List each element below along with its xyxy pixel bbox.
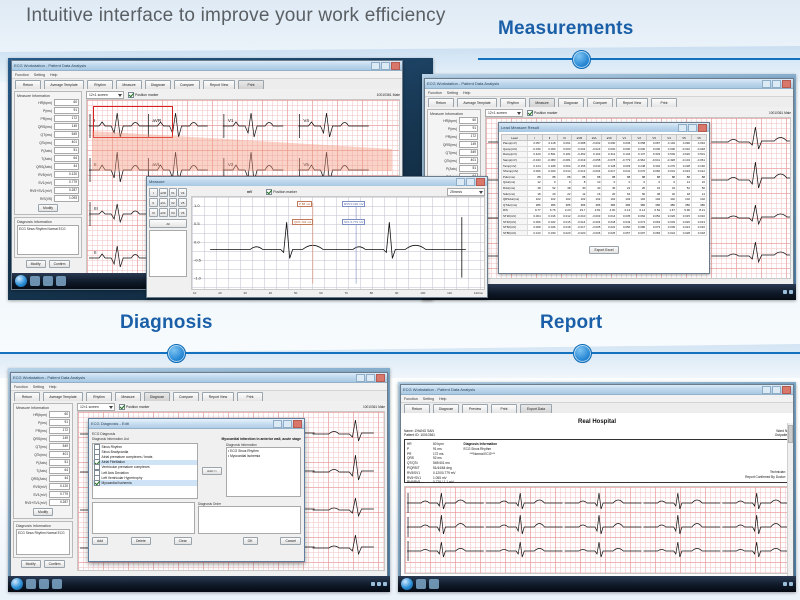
close-icon[interactable] bbox=[782, 80, 791, 88]
browser-icon[interactable] bbox=[416, 579, 426, 589]
field-qtc-3: QTc(ms)401 bbox=[16, 451, 70, 458]
tray-icon[interactable] bbox=[371, 582, 375, 586]
window-title-2: ECG Workstation - Patient Data Analysis bbox=[427, 81, 499, 86]
menu-setting[interactable]: Setting bbox=[447, 91, 458, 95]
start-orb-icon[interactable] bbox=[401, 578, 413, 590]
maximize-icon[interactable] bbox=[283, 420, 292, 428]
field-qt-3: QT(ms)549 bbox=[16, 443, 70, 450]
field-value[interactable]: 51 bbox=[54, 147, 79, 154]
measure-actions-3[interactable]: Modify bbox=[16, 508, 70, 516]
x-tick: 120ms bbox=[474, 291, 483, 295]
lead-button-V1[interactable]: V1 bbox=[169, 188, 178, 197]
menu-function[interactable]: Function bbox=[14, 385, 28, 389]
field-value[interactable]: 51 bbox=[49, 459, 70, 466]
all-leads-button[interactable]: All bbox=[149, 219, 187, 228]
field-p-3: P(ms)91 bbox=[16, 419, 70, 426]
report-field: RV6/RV50.776 / 1.1 mV bbox=[407, 480, 456, 485]
menu-function[interactable]: Function bbox=[428, 91, 442, 95]
app-window-report[interactable]: ECG Workstation - Patient Data Analysis … bbox=[400, 384, 794, 578]
panel-actions[interactable]: Modify Confirm bbox=[14, 260, 82, 268]
window-titlebar[interactable]: ECG Workstation - Patient Data Analysis bbox=[12, 61, 402, 71]
toolbar-average-template[interactable]: Average Template bbox=[43, 392, 83, 402]
close-icon[interactable] bbox=[293, 420, 302, 428]
lead-button-V4[interactable]: V4 bbox=[178, 188, 187, 197]
report-toolbar-diagnose[interactable]: Diagnose bbox=[433, 404, 459, 414]
report-toolbar-print[interactable]: Print bbox=[491, 404, 517, 414]
diagnosis-list-item-label: Sinus Rhythm bbox=[102, 445, 123, 449]
lead-button-III[interactable]: III bbox=[149, 208, 158, 217]
x-tick: 20 bbox=[218, 291, 221, 295]
modify-button[interactable]: Modify bbox=[38, 204, 58, 212]
lead-button-aVR[interactable]: aVR bbox=[159, 188, 168, 197]
field-value[interactable]: 64 bbox=[49, 467, 70, 474]
lead-button-grid[interactable]: I aVR V1 V4 II aVL V2 V5 III aVF V3 V6 bbox=[149, 188, 187, 217]
maximize-icon[interactable] bbox=[772, 386, 781, 394]
close-icon[interactable] bbox=[476, 178, 485, 186]
field-value[interactable]: 60 bbox=[54, 99, 79, 106]
maximize-icon[interactable] bbox=[466, 178, 475, 186]
table-row-label: ST80(mV) bbox=[502, 230, 528, 236]
table-cell: -0.020 bbox=[572, 230, 587, 236]
field-rs: R/S(V5)1.093 bbox=[17, 195, 79, 202]
measurements-table[interactable]: LeadIIIIIIaVRaVLaVFV1V2V3V4V5V6 Pamp(mV)… bbox=[501, 134, 707, 236]
svg-text:II: II bbox=[94, 162, 97, 167]
checkbox-icon[interactable] bbox=[94, 480, 100, 486]
browser-icon[interactable] bbox=[30, 276, 40, 286]
position-marker-label: Position marker bbox=[135, 93, 159, 97]
minimize-icon[interactable] bbox=[762, 80, 771, 88]
annotation-p: P 88 ms bbox=[297, 201, 312, 207]
lead-button-aVL[interactable]: aVL bbox=[159, 198, 168, 207]
measure-plot[interactable]: 1.00.50.0 -0.5-1.0 P 88 ms QRS 102 ms RV… bbox=[191, 196, 485, 290]
dialog-transfer-actions[interactable]: Add >> bbox=[201, 443, 223, 499]
field-value[interactable]: 172 bbox=[459, 133, 478, 140]
report-ecg-traces bbox=[405, 487, 789, 573]
report-summary-box: HR60 bpmP91 msPR172 msQRS92 msQT/QTc549/… bbox=[404, 439, 790, 483]
close-icon[interactable] bbox=[782, 386, 791, 394]
diagnosis-item-list[interactable]: Sinus RhythmSinus BradycardiaAtrial prem… bbox=[92, 443, 198, 499]
field-value[interactable]: 0.120 bbox=[49, 483, 70, 490]
field-value[interactable]: 44 bbox=[54, 163, 79, 170]
table-cell: 0.044 bbox=[662, 230, 677, 236]
checkbox-icon[interactable] bbox=[266, 189, 272, 195]
system-tray[interactable] bbox=[783, 290, 793, 294]
field-label: HR(bpm) bbox=[38, 101, 52, 105]
diagnosis-list-item-label: Left Ventricular Hypertrophy bbox=[102, 476, 143, 480]
field-value[interactable]: 149 bbox=[54, 123, 79, 130]
dialog-banner: Myocardial infarction in anterior wall, … bbox=[221, 437, 301, 441]
ok-button[interactable]: OK bbox=[243, 537, 258, 545]
measure-info-title-2: Measure Information bbox=[430, 112, 478, 116]
field-label: HR(bpm) bbox=[33, 413, 47, 417]
x-tick: 50 bbox=[294, 291, 297, 295]
field-label: QTc(ms) bbox=[444, 159, 457, 163]
maximize-icon[interactable] bbox=[381, 62, 390, 70]
field-label: R/S(V5) bbox=[40, 197, 52, 201]
measure-info-group: Measure Information HR(bpm)60 P(ms)91 PR… bbox=[14, 91, 82, 215]
field-p-2: P(ms)91 bbox=[430, 125, 478, 132]
patient-id-label-2: 10010361 Male bbox=[769, 111, 791, 115]
field-value[interactable]: 0.287 bbox=[49, 499, 70, 506]
menu-setting[interactable]: Setting bbox=[33, 385, 44, 389]
close-icon[interactable] bbox=[698, 124, 707, 132]
toolbar-return[interactable]: Return bbox=[428, 98, 454, 108]
menu-help[interactable]: Help bbox=[463, 91, 470, 95]
lead-button-V6[interactable]: V6 bbox=[178, 208, 187, 217]
field-label: QT(ms) bbox=[446, 151, 458, 155]
system-tray[interactable] bbox=[783, 582, 793, 586]
field-value[interactable]: 91 bbox=[54, 107, 79, 114]
table-body[interactable]: Pamp(mV)0.0570.1180.061-0.088-0.0020.090… bbox=[502, 141, 707, 236]
toolbar-print[interactable]: Print bbox=[238, 80, 264, 90]
window-buttons[interactable] bbox=[762, 386, 791, 394]
report-toolbar-export[interactable]: Export Data bbox=[520, 404, 552, 414]
menubar-2[interactable]: Function Setting Help bbox=[425, 89, 793, 97]
diagnosis-info-text[interactable]: ECG Sinus Rhythm Normal ECG bbox=[17, 225, 79, 255]
minimize-icon[interactable] bbox=[371, 62, 380, 70]
patient-id-label-3: 10010361 Male bbox=[363, 405, 385, 409]
lead-button-V5[interactable]: V5 bbox=[178, 198, 187, 207]
dialog-titlebar[interactable]: ECG Diagnosis - Edit bbox=[89, 419, 304, 429]
diagnosis-list-item-label: Ventricular premature complexes bbox=[102, 465, 150, 469]
window-buttons[interactable] bbox=[456, 178, 485, 186]
modify-button-3[interactable]: Modify bbox=[33, 508, 53, 516]
toolbar-print[interactable]: Print bbox=[237, 392, 263, 402]
add-button[interactable]: Add bbox=[92, 537, 108, 545]
confirm-button-2[interactable]: Confirm bbox=[44, 560, 66, 568]
measure-trace: 1.00.50.0 -0.5-1.0 bbox=[192, 197, 484, 290]
field-value[interactable]: 0.779 bbox=[49, 491, 70, 498]
start-orb-icon[interactable] bbox=[15, 275, 27, 287]
field-label: RV5+SV1(mV) bbox=[30, 189, 52, 193]
toolbar-measure[interactable]: Measure bbox=[116, 80, 142, 90]
lead-measure-result-window[interactable]: Lead Measure Result LeadIIIIIIaVRaVLaVFV… bbox=[498, 122, 710, 274]
section-label-report: Report bbox=[540, 312, 602, 334]
field-label: QRS(ms) bbox=[443, 143, 457, 147]
window-title-3: ECG Workstation - Patient Data Analysis bbox=[13, 375, 85, 380]
toolbar-average-template[interactable]: Average Template bbox=[457, 98, 497, 108]
window-buttons[interactable] bbox=[356, 374, 385, 382]
menu-function[interactable]: Function bbox=[404, 397, 418, 401]
window-titlebar-4[interactable]: ECG Workstation - Patient Data Analysis bbox=[401, 385, 793, 395]
toolbar-rhythm[interactable]: Rhythm bbox=[87, 80, 113, 90]
diagnosis-list-item-label: Left Axis Deviation bbox=[102, 471, 129, 475]
measure-chart-area: mV Position marker 25mm/s 1.00.50.0 -0.5… bbox=[189, 186, 487, 297]
menu-help[interactable]: Help bbox=[50, 73, 57, 77]
field-value[interactable]: 60 bbox=[49, 411, 70, 418]
browser-icon[interactable] bbox=[26, 579, 36, 589]
toolbar-diagnose[interactable]: Diagnose bbox=[145, 80, 171, 90]
field-label: P(Axis) bbox=[36, 461, 47, 465]
menu-setting[interactable]: Setting bbox=[423, 397, 434, 401]
dialog-title: ECG Diagnosis - Edit bbox=[91, 421, 129, 426]
connector-dot-measurements bbox=[572, 50, 591, 69]
toolbar-diagnose[interactable]: Diagnose bbox=[558, 98, 584, 108]
lead-mode-select-2[interactable]: 12×1 screen bbox=[485, 109, 523, 117]
field-taxis-3: T(Axis)64 bbox=[16, 467, 70, 474]
window-buttons[interactable] bbox=[273, 420, 302, 428]
menu-help[interactable]: Help bbox=[49, 385, 56, 389]
taskbar-3[interactable] bbox=[8, 576, 390, 592]
field-value[interactable]: 401 bbox=[54, 139, 79, 146]
lead-list[interactable] bbox=[149, 230, 187, 277]
field-value[interactable]: 549 bbox=[49, 443, 70, 450]
measure-window-title: Measure bbox=[149, 179, 165, 184]
field-taxis: T(Axis)64 bbox=[17, 155, 79, 162]
x-tick: 40 bbox=[269, 291, 272, 295]
toolbar-return[interactable]: Return bbox=[14, 392, 40, 402]
field-value[interactable]: 149 bbox=[49, 435, 70, 442]
svg-text:1.0: 1.0 bbox=[194, 203, 200, 208]
minimize-icon[interactable] bbox=[356, 374, 365, 382]
field-value[interactable]: 60 bbox=[459, 117, 478, 124]
report-page[interactable]: Real Hospital Name: ZHANG SAN Patient ID… bbox=[401, 413, 793, 577]
maximize-icon[interactable] bbox=[688, 124, 697, 132]
modify-button-2[interactable]: Modify bbox=[26, 260, 46, 268]
menubar-3[interactable]: Function Setting Help bbox=[11, 383, 387, 391]
ecg-controls-2[interactable]: 12×1 screen Position marker 10010361 Mal… bbox=[485, 109, 791, 116]
field-value[interactable]: 0.779 bbox=[54, 179, 79, 186]
window-title-4: ECG Workstation - Patient Data Analysis bbox=[403, 387, 475, 392]
selected-diagnosis-item[interactable]: • Myocardial Ischemia bbox=[227, 453, 300, 458]
media-icon[interactable] bbox=[56, 276, 66, 286]
lead-button-I[interactable]: I bbox=[149, 188, 158, 197]
menubar-4[interactable]: Function Setting Help bbox=[401, 395, 793, 403]
field-label: QT(ms) bbox=[36, 445, 48, 449]
start-orb-icon[interactable] bbox=[11, 578, 23, 590]
field-qtc-2: QTc(ms)401 bbox=[430, 157, 478, 164]
tray-icon[interactable] bbox=[377, 582, 381, 586]
annotation-rv5: RV5 0.120 mV bbox=[342, 201, 365, 207]
table-window-title: Lead Measure Result bbox=[501, 125, 539, 130]
toolbar-rhythm[interactable]: Rhythm bbox=[500, 98, 526, 108]
toolbar-measure[interactable]: Measure bbox=[115, 392, 141, 402]
maximize-icon[interactable] bbox=[366, 374, 375, 382]
field-value[interactable]: 0.287 bbox=[54, 187, 79, 194]
measure-info-title-3: Measure Information bbox=[16, 406, 70, 410]
delete-button[interactable]: Delete bbox=[131, 537, 151, 545]
field-value[interactable]: 401 bbox=[459, 157, 478, 164]
menu-setting[interactable]: Setting bbox=[34, 73, 45, 77]
add-to-report-button[interactable]: Add >> bbox=[202, 467, 222, 475]
table-row[interactable]: ST80(mV)0.0100.0300.020-0.020-0.0060.025… bbox=[502, 230, 707, 236]
dialog-body: ECG Diagnosis Diagnosis Information List… bbox=[89, 429, 304, 548]
report-people-line: Patient ID: 10010361 bbox=[404, 433, 435, 437]
field-label: QRS(Axis) bbox=[31, 477, 47, 481]
position-marker-label-3: Position marker bbox=[534, 111, 558, 115]
feature-collage: Intuitive interface to improve your work… bbox=[0, 0, 800, 600]
table-cell: 0.020 bbox=[557, 230, 572, 236]
ecg-controls[interactable]: 12×1 screen Position marker 10010361 Mal… bbox=[86, 91, 400, 98]
lead-button-V3[interactable]: V3 bbox=[169, 208, 178, 217]
minimize-icon[interactable] bbox=[273, 420, 282, 428]
diagnosis-list-item[interactable]: Myocardial Ischemia bbox=[93, 480, 197, 485]
table-scroll-area[interactable]: LeadIIIIIIaVRaVLaVFV1V2V3V4V5V6 Pamp(mV)… bbox=[499, 132, 709, 273]
ecg-controls-3[interactable]: 12×1 screen Position marker 10010361 Mal… bbox=[77, 403, 385, 410]
menu-help[interactable]: Help bbox=[439, 397, 446, 401]
minimize-icon[interactable] bbox=[456, 178, 465, 186]
connector-rail-diagnosis-right bbox=[175, 352, 800, 354]
lead-mode-select[interactable]: 12×1 screen bbox=[86, 91, 124, 99]
diagnosis-list-item-label: Atrial Fibrillation bbox=[102, 460, 125, 464]
toolbar-average-template[interactable]: Average Template bbox=[44, 80, 84, 90]
export-excel-button[interactable]: Export Excel bbox=[589, 246, 618, 254]
field-qrs-3: QRS(ms)149 bbox=[16, 435, 70, 442]
field-value[interactable]: 149 bbox=[459, 141, 478, 148]
window-buttons[interactable] bbox=[678, 124, 707, 132]
window-titlebar-2[interactable]: ECG Workstation - Patient Data Analysis bbox=[425, 79, 793, 89]
toolbar-rhythm[interactable]: Rhythm bbox=[86, 392, 112, 402]
modify-button-4[interactable]: Modify bbox=[21, 560, 41, 568]
field-value[interactable]: 549 bbox=[54, 131, 79, 138]
diagnosis-list-item-label: Atrial premature complexes / beats bbox=[102, 455, 153, 459]
position-marker-label-2: Position marker bbox=[273, 190, 297, 194]
close-icon[interactable] bbox=[376, 374, 385, 382]
x-tick: 90 bbox=[395, 291, 398, 295]
measure-window-body: I aVR V1 V4 II aVL V2 V5 III aVF V3 V6 A… bbox=[147, 186, 487, 297]
diagnosis-dialog[interactable]: ECG Diagnosis - Edit ECG Diagnosis Diagn… bbox=[88, 418, 305, 562]
lead-button-V2[interactable]: V2 bbox=[169, 198, 178, 207]
toolbar-report-view[interactable]: Report View bbox=[616, 98, 648, 108]
field-qt-2: QT(ms)549 bbox=[430, 149, 478, 156]
field-label: PR(ms) bbox=[446, 135, 458, 139]
maximize-icon[interactable] bbox=[772, 80, 781, 88]
report-scrollbar[interactable] bbox=[787, 423, 793, 577]
lead-button-panel[interactable]: I aVR V1 V4 II aVL V2 V5 III aVF V3 V6 A… bbox=[147, 186, 189, 297]
checkbox-icon[interactable] bbox=[119, 404, 125, 410]
toolbar-report-view[interactable]: Report View bbox=[203, 80, 235, 90]
clear-button[interactable]: Clear bbox=[174, 537, 192, 545]
folder-icon[interactable] bbox=[429, 579, 439, 589]
measure-detail-window[interactable]: Measure I aVR V1 V4 II aVL V2 V5 III bbox=[146, 176, 488, 298]
lead-button-II[interactable]: II bbox=[149, 198, 158, 207]
measure-controls[interactable]: mV Position marker 25mm/s bbox=[191, 188, 485, 195]
field-rv5sv1: RV5+SV1(mV)0.287 bbox=[17, 187, 79, 194]
system-tray[interactable] bbox=[371, 582, 387, 586]
checkbox-icon[interactable] bbox=[527, 110, 533, 116]
toolbar-compare[interactable]: Compare bbox=[173, 392, 199, 402]
tray-icon[interactable] bbox=[789, 290, 793, 294]
tray-icon[interactable] bbox=[783, 582, 787, 586]
measure-x-axis: 10 20 30 40 50 60 70 80 90 100 110 120ms bbox=[191, 291, 485, 295]
window-titlebar-3[interactable]: ECG Workstation - Patient Data Analysis bbox=[11, 373, 387, 383]
tray-icon[interactable] bbox=[383, 582, 387, 586]
field-qrs: QRS(ms)149 bbox=[17, 123, 79, 130]
folder-icon[interactable] bbox=[39, 579, 49, 589]
report-doctor-label: Report Confirmed By Doctor: bbox=[745, 475, 786, 480]
cancel-button[interactable]: Cancel bbox=[280, 537, 301, 545]
toolbar-measure[interactable]: Measure bbox=[529, 98, 555, 108]
lead-mode-select-3[interactable]: 12×1 screen bbox=[77, 403, 115, 411]
report-field-label: RV6/RV5 bbox=[407, 480, 427, 485]
toolbar-report-view[interactable]: Report View bbox=[202, 392, 234, 402]
measure-actions[interactable]: Modify bbox=[17, 204, 79, 212]
field-value[interactable]: 0.120 bbox=[54, 171, 79, 178]
svg-text:III: III bbox=[94, 206, 98, 211]
table-actions[interactable]: Export Excel bbox=[501, 238, 707, 256]
position-marker-checkbox-3[interactable]: Position marker bbox=[527, 110, 558, 116]
report-ecg-strip[interactable] bbox=[404, 486, 790, 574]
field-label: T(Axis) bbox=[36, 469, 47, 473]
field-qtc: QTc(ms)401 bbox=[17, 139, 79, 146]
diagnosis-list-item-label: Sinus Bradycardia bbox=[102, 450, 129, 454]
speed-select[interactable]: 25mm/s bbox=[447, 188, 485, 196]
field-qrsaxis-3: QRS(Axis)44 bbox=[16, 475, 70, 482]
toolbar-print[interactable]: Print bbox=[651, 98, 677, 108]
field-value[interactable]: 549 bbox=[459, 149, 478, 156]
field-label: RV5+SV1(mV) bbox=[25, 501, 47, 505]
field-value[interactable]: 172 bbox=[54, 115, 79, 122]
taskbar-4[interactable] bbox=[398, 576, 796, 592]
x-tick: 100 bbox=[420, 291, 425, 295]
confirm-button[interactable]: Confirm bbox=[49, 260, 71, 268]
close-icon[interactable] bbox=[391, 62, 400, 70]
diagnosis-info-text-3[interactable]: ECG Sinus Rhythm Normal ECG bbox=[16, 529, 70, 555]
table-cell: 0.018 bbox=[691, 230, 706, 236]
minimize-icon[interactable] bbox=[762, 386, 771, 394]
position-marker-checkbox-4[interactable]: Position marker bbox=[119, 404, 150, 410]
field-label: P(Axis) bbox=[446, 167, 457, 171]
diagnosis-free-text[interactable] bbox=[92, 502, 195, 534]
panel-actions-3[interactable]: Modify Confirm bbox=[13, 560, 73, 568]
table-cell: 0.057 bbox=[617, 230, 632, 236]
field-paxis: P(Axis)51 bbox=[17, 147, 79, 154]
svg-text:II: II bbox=[94, 250, 97, 255]
position-marker-checkbox-2[interactable]: Position marker bbox=[266, 189, 297, 195]
report-toolbar-preview[interactable]: Preview bbox=[462, 404, 488, 414]
field-value[interactable]: 91 bbox=[49, 419, 70, 426]
tray-icon[interactable] bbox=[783, 290, 787, 294]
folder-icon[interactable] bbox=[43, 276, 53, 286]
field-hr: HR(bpm)60 bbox=[17, 99, 79, 106]
menubar[interactable]: Function Setting Help bbox=[12, 71, 402, 79]
field-value[interactable]: 51 bbox=[459, 165, 478, 172]
svg-text:I: I bbox=[94, 118, 95, 123]
menu-function[interactable]: Function bbox=[15, 73, 29, 77]
field-value[interactable]: 91 bbox=[459, 125, 478, 132]
tray-icon[interactable] bbox=[789, 582, 793, 586]
field-value[interactable]: 172 bbox=[49, 427, 70, 434]
field-value[interactable]: 64 bbox=[54, 155, 79, 162]
media-icon[interactable] bbox=[52, 579, 62, 589]
lead-button-aVF[interactable]: aVF bbox=[159, 208, 168, 217]
x-tick: 10 bbox=[193, 291, 196, 295]
toolbar-compare[interactable]: Compare bbox=[174, 80, 200, 90]
dialog-buttons[interactable]: Add Delete Clear OK Cancel bbox=[92, 537, 301, 545]
field-value[interactable]: 401 bbox=[49, 451, 70, 458]
toolbar-return[interactable]: Return bbox=[15, 80, 41, 90]
report-scroll-thumb[interactable] bbox=[788, 425, 793, 443]
selected-diagnosis-list[interactable]: • ECG Sinus Rhythm• Myocardial Ischemia bbox=[226, 447, 301, 497]
toolbar-diagnose[interactable]: Diagnose bbox=[144, 392, 170, 402]
checkbox-icon[interactable] bbox=[128, 92, 134, 98]
x-tick: 110 bbox=[447, 291, 452, 295]
page-title: Intuitive interface to improve your work… bbox=[26, 4, 446, 28]
field-value[interactable]: 1.093 bbox=[54, 195, 79, 202]
window-buttons[interactable] bbox=[762, 80, 791, 88]
toolbar-compare[interactable]: Compare bbox=[587, 98, 613, 108]
window-buttons[interactable] bbox=[371, 62, 400, 70]
diagnosis-order-list[interactable] bbox=[198, 506, 301, 534]
field-value[interactable]: 44 bbox=[49, 475, 70, 482]
screenshot-report: ECG Workstation - Patient Data Analysis … bbox=[398, 382, 796, 592]
report-toolbar-return[interactable]: Return bbox=[404, 404, 430, 414]
minimize-icon[interactable] bbox=[678, 124, 687, 132]
svg-text:0.0: 0.0 bbox=[194, 239, 200, 244]
position-marker-checkbox[interactable]: Position marker bbox=[128, 92, 159, 98]
field-pr-2: PR(ms)172 bbox=[430, 133, 478, 140]
report-measure-fields: HR60 bpmP91 msPR172 msQRS92 msQT/QTc549/… bbox=[407, 442, 456, 480]
